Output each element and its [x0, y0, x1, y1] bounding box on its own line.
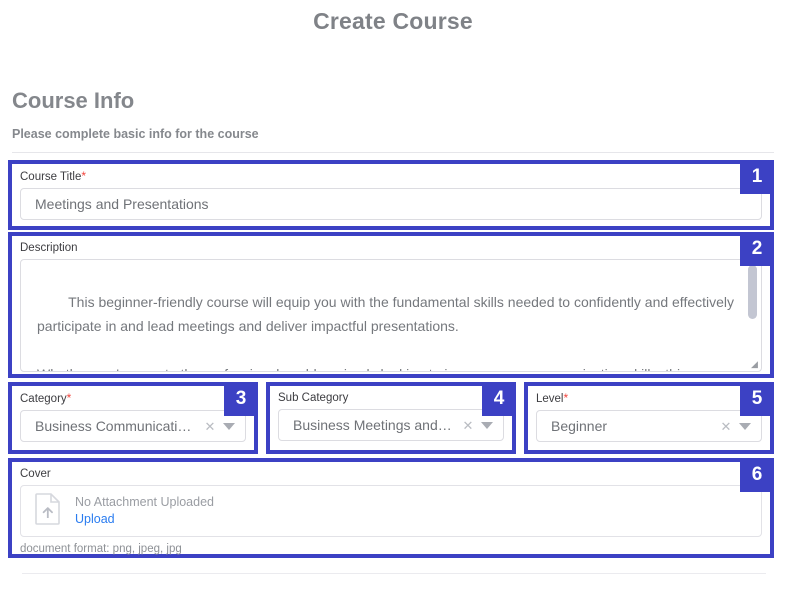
sub-category-select[interactable]: Business Meetings and… ✕ [278, 409, 504, 441]
level-value: Beginner [551, 418, 717, 434]
category-field-group: Category* Business Communicati… ✕ 3 [8, 382, 258, 454]
description-scrollbar-thumb[interactable] [748, 265, 757, 319]
required-asterisk: * [564, 391, 569, 405]
caret-down-icon[interactable] [477, 422, 497, 429]
cover-upload-area[interactable]: No Attachment Uploaded Upload [20, 485, 762, 537]
annotation-badge-6: 6 [740, 458, 774, 492]
sub-category-value: Business Meetings and… [293, 417, 459, 433]
file-upload-icon [35, 493, 61, 530]
course-title-field-group: Course Title* Meetings and Presentations… [8, 160, 774, 230]
level-label-text: Level [536, 393, 564, 405]
clear-icon[interactable]: ✕ [717, 420, 735, 433]
section-title: Course Info [12, 88, 134, 114]
description-value: This beginner-friendly course will equip… [37, 294, 738, 372]
annotation-badge-3: 3 [224, 382, 258, 416]
category-value: Business Communicati… [35, 418, 201, 434]
annotation-badge-1: 1 [740, 160, 774, 194]
course-title-input[interactable]: Meetings and Presentations [20, 188, 762, 220]
required-asterisk: * [67, 391, 72, 405]
sub-category-field-group: Sub Category Business Meetings and… ✕ 4 [266, 382, 516, 454]
bottom-divider [22, 573, 766, 574]
cover-format-hint: document format: png, jpeg, jpg [20, 543, 762, 555]
clear-icon[interactable]: ✕ [201, 420, 219, 433]
upload-link[interactable]: Upload [75, 511, 214, 528]
resize-handle[interactable]: ◢ [749, 359, 760, 370]
section-subtitle: Please complete basic info for the cours… [12, 127, 259, 141]
page-title: Create Course [0, 8, 786, 35]
level-select[interactable]: Beginner ✕ [536, 410, 762, 442]
annotation-badge-5: 5 [740, 382, 774, 416]
course-title-value: Meetings and Presentations [35, 196, 209, 212]
annotation-badge-2: 2 [740, 232, 774, 266]
caret-down-icon[interactable] [735, 423, 755, 430]
caret-down-icon[interactable] [219, 423, 239, 430]
no-attachment-text: No Attachment Uploaded [75, 494, 214, 511]
level-label: Level* [536, 391, 762, 406]
description-label: Description [20, 241, 762, 255]
description-textarea[interactable]: This beginner-friendly course will equip… [20, 259, 762, 372]
description-field-group: Description This beginner-friendly cours… [8, 232, 774, 378]
category-label: Category* [20, 391, 246, 406]
cover-field-group: Cover No Attachment Uploaded Upload docu… [8, 458, 774, 558]
required-asterisk: * [81, 169, 86, 183]
category-select[interactable]: Business Communicati… ✕ [20, 410, 246, 442]
cover-label: Cover [20, 467, 762, 481]
course-title-label: Course Title* [20, 169, 762, 184]
top-divider [12, 152, 774, 153]
level-field-group: Level* Beginner ✕ 5 [524, 382, 774, 454]
annotation-badge-4: 4 [482, 382, 516, 416]
cover-upload-texts: No Attachment Uploaded Upload [75, 494, 214, 528]
clear-icon[interactable]: ✕ [459, 419, 477, 432]
sub-category-label: Sub Category [278, 391, 504, 405]
category-label-text: Category [20, 393, 67, 405]
course-title-label-text: Course Title [20, 171, 81, 183]
create-course-page: Create Course Course Info Please complet… [0, 0, 786, 596]
